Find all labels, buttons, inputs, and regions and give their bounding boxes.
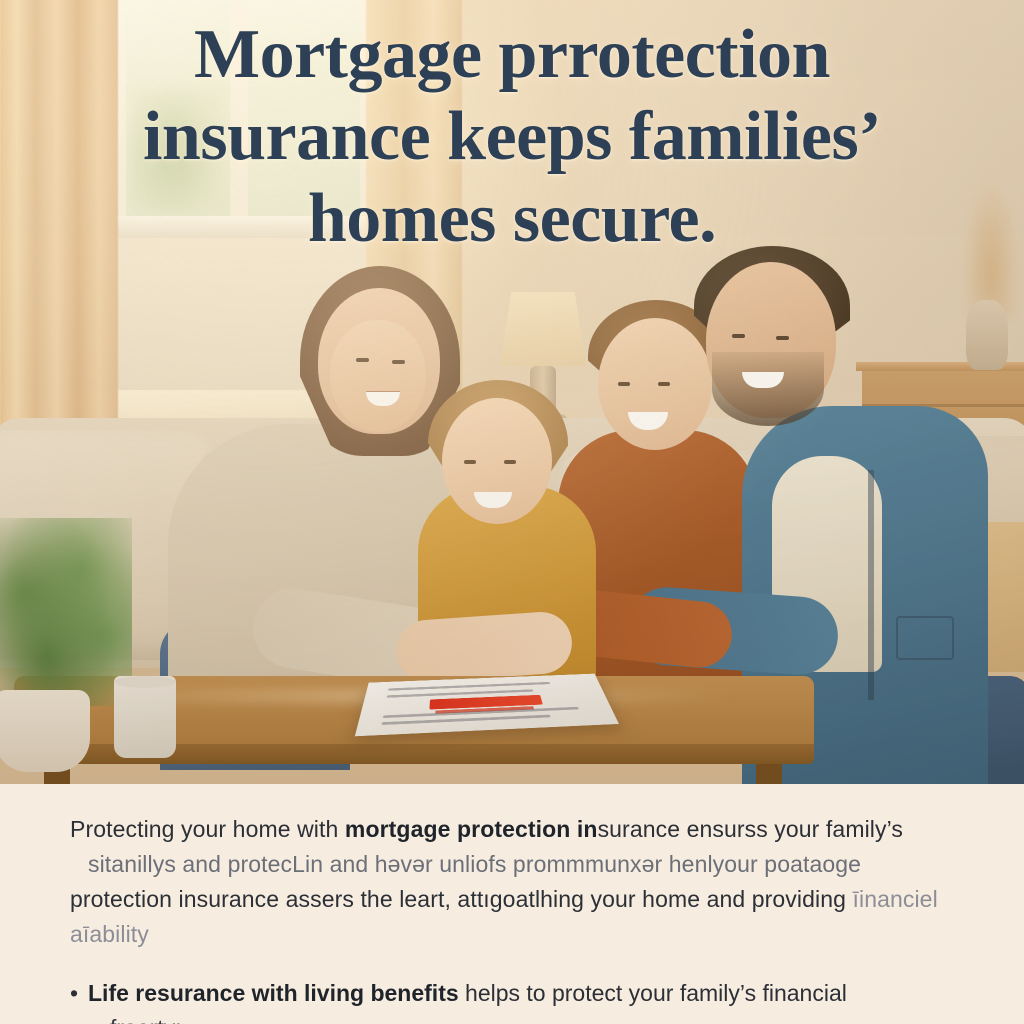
benefits-list: • Life resurance with living benefits he… [70, 976, 954, 1024]
para-line1-bold: mortgage protection in [345, 816, 598, 842]
bullet-bold-lead: Life resurance with living benefits [88, 980, 459, 1006]
poster-page: Mortgage prrotection insurance keeps fam… [0, 0, 1024, 1024]
boy-eye [618, 382, 630, 386]
father-eye [732, 334, 745, 338]
body-text-panel: Protecting your home with mortgage prote… [0, 784, 1024, 1024]
para-line1-post: surance ensurss your family’s [598, 816, 903, 842]
boy-head [598, 318, 712, 450]
vase [966, 300, 1008, 370]
mug [114, 676, 176, 758]
boy-eye [658, 382, 670, 386]
father-eye [776, 336, 789, 340]
mother-eye [392, 360, 405, 364]
plant-pot [0, 690, 90, 772]
girl-eye [504, 460, 516, 464]
para-line2: sitanillys and protecLin and həvər unlio… [70, 847, 954, 882]
girl-arm [394, 610, 574, 684]
mug-rim [114, 676, 176, 688]
lamp-shade-icon [500, 292, 586, 366]
page-title: Mortgage prrotection insurance keeps fam… [0, 14, 1024, 260]
father-beard [712, 352, 824, 426]
intro-paragraph: Protecting your home with mortgage prote… [70, 812, 954, 952]
bullet-dot-icon: • [70, 976, 78, 1011]
bullet-tail: fraarty; [88, 1011, 954, 1024]
para-line3: protection insurance assers the leart, a… [70, 886, 846, 912]
plant-leaves [0, 518, 132, 706]
mother-eye [356, 358, 369, 362]
list-item: • Life resurance with living benefits he… [70, 976, 954, 1024]
father-shirt-pocket [896, 616, 954, 660]
girl-eye [464, 460, 476, 464]
bullet-rest: helps to protect your family’s financial [459, 980, 847, 1006]
para-line1-pre: Protecting your home with [70, 816, 345, 842]
father-shirt-placket [868, 470, 874, 700]
table-leg [756, 764, 782, 784]
mother-face [330, 320, 426, 432]
